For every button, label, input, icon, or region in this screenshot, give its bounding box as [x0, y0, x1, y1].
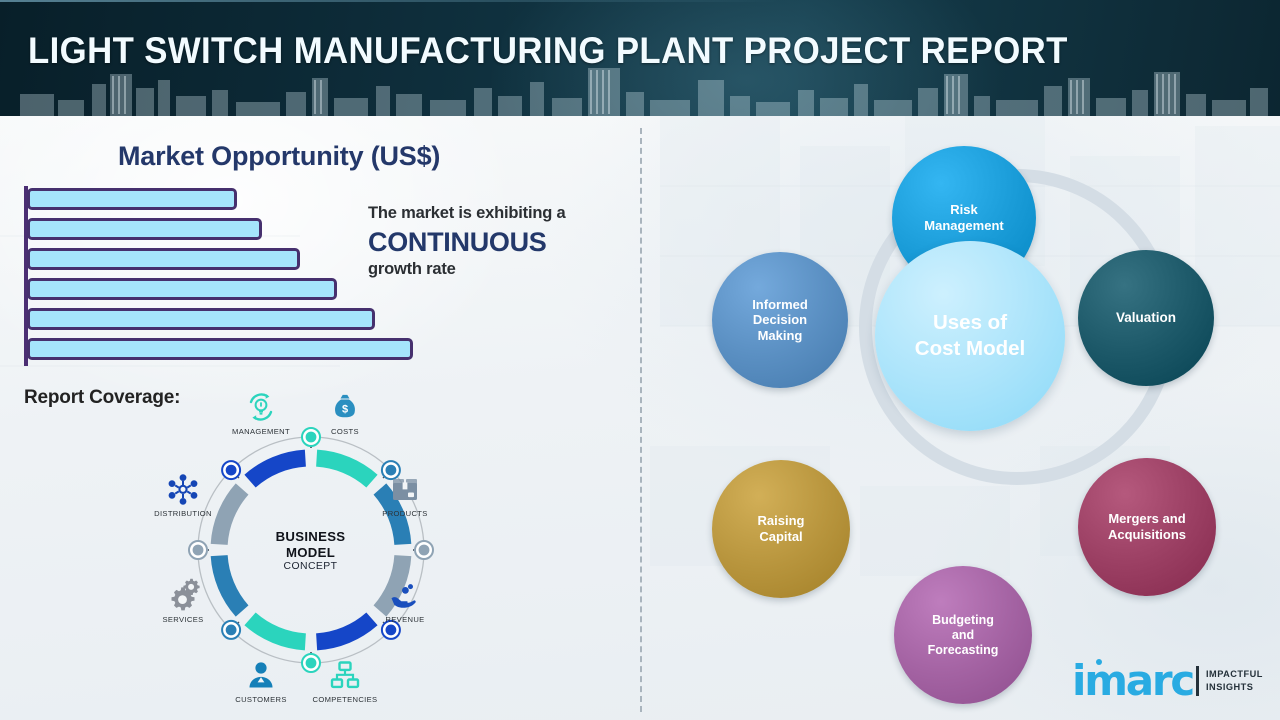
logo-divider	[1196, 666, 1199, 696]
coverage-item-label: CUSTOMERS	[218, 695, 304, 704]
org-chart-icon	[302, 646, 388, 692]
cost-model-node: Valuation	[1078, 250, 1214, 386]
cost-model-center-node: Uses of Cost Model	[875, 241, 1065, 431]
coverage-item-distribution: DISTRIBUTION	[140, 460, 226, 518]
slide-canvas: LIGHT SWITCH MANUFACTURING PLANT PROJECT…	[0, 0, 1280, 720]
logo-tagline-line2: INSIGHTS	[1206, 681, 1263, 694]
market-growth-callout: The market is exhibiting a CONTINUOUS gr…	[368, 204, 638, 280]
coverage-item-label: COMPETENCIES	[302, 695, 388, 704]
chart-bar	[27, 248, 300, 270]
cost-model-node: InformedDecisionMaking	[712, 252, 848, 388]
cost-model-node: BudgetingandForecasting	[894, 566, 1032, 704]
cost-model-node: RaisingCapital	[712, 460, 850, 598]
cost-model-node-label: InformedDecisionMaking	[746, 297, 814, 344]
chart-bar	[27, 188, 237, 210]
chart-bar	[27, 218, 262, 240]
recycle-lightbulb-icon	[218, 378, 304, 424]
center-label-line1: BUSINESS	[276, 529, 346, 545]
page-title: LIGHT SWITCH MANUFACTURING PLANT PROJECT…	[28, 30, 1068, 72]
coverage-item-label: SERVICES	[140, 615, 226, 624]
callout-line-1: The market is exhibiting a	[368, 204, 638, 224]
coverage-item-label: DISTRIBUTION	[140, 509, 226, 518]
coverage-item-label: COSTS	[302, 427, 388, 436]
person-user-icon	[218, 646, 304, 692]
slide-header: LIGHT SWITCH MANUFACTURING PLANT PROJECT…	[0, 0, 1280, 116]
callout-emphasis: CONTINUOUS	[368, 224, 638, 260]
cost-model-node-label: Mergers andAcquisitions	[1102, 511, 1192, 542]
package-box-icon	[362, 460, 448, 506]
coverage-item-label: MANAGEMENT	[218, 427, 304, 436]
coverage-item-revenue: REVENUE	[362, 566, 448, 624]
coverage-item-management: MANAGEMENT	[218, 378, 304, 436]
gears-icon	[140, 566, 226, 612]
coverage-item-label: PRODUCTS	[362, 509, 448, 518]
cost-model-node-label: RaisingCapital	[752, 513, 811, 544]
logo-tagline: IMPACTFUL INSIGHTS	[1206, 668, 1263, 695]
callout-line-2: growth rate	[368, 260, 638, 280]
center-node-line2: Cost Model	[915, 336, 1025, 362]
imarc-logo: imarc IMPACTFUL INSIGHTS	[1072, 658, 1276, 706]
cost-model-node: Mergers andAcquisitions	[1078, 458, 1216, 596]
market-opportunity-bar-chart	[24, 186, 414, 366]
logo-wordmark: imarc	[1072, 660, 1193, 702]
center-label-line2: MODEL	[286, 545, 335, 561]
panel-divider	[640, 128, 642, 712]
coverage-item-products: PRODUCTS	[362, 460, 448, 518]
business-model-diagram: BUSINESS MODEL CONCEPT MANAGEMENT$COSTSP…	[130, 378, 490, 713]
chart-bar	[27, 338, 413, 360]
coverage-item-services: SERVICES	[140, 566, 226, 624]
center-label-line3: CONCEPT	[284, 561, 338, 572]
spoke-dot	[419, 545, 430, 556]
coverage-item-label: REVENUE	[362, 615, 448, 624]
chart-bar	[27, 278, 337, 300]
network-nodes-icon	[140, 460, 226, 506]
hand-coins-icon	[362, 566, 448, 612]
logo-tagline-line1: IMPACTFUL	[1206, 668, 1263, 681]
coverage-item-customers: CUSTOMERS	[218, 646, 304, 704]
coverage-item-competencies: COMPETENCIES	[302, 646, 388, 704]
market-opportunity-heading: Market Opportunity (US$)	[118, 141, 440, 172]
chart-bar	[27, 308, 375, 330]
spoke-dot	[193, 545, 204, 556]
coverage-item-costs: $COSTS	[302, 378, 388, 436]
cost-model-node-label: BudgetingandForecasting	[922, 613, 1005, 658]
center-node-line1: Uses of	[915, 310, 1025, 336]
money-bag-icon: $	[302, 378, 388, 424]
cost-model-node-label: Valuation	[1110, 310, 1182, 326]
cost-model-node-label: RiskManagement	[918, 202, 1009, 233]
uses-of-cost-model-diagram: RiskManagementValuationMergers andAcquis…	[660, 128, 1280, 720]
svg-text:$: $	[342, 403, 348, 415]
